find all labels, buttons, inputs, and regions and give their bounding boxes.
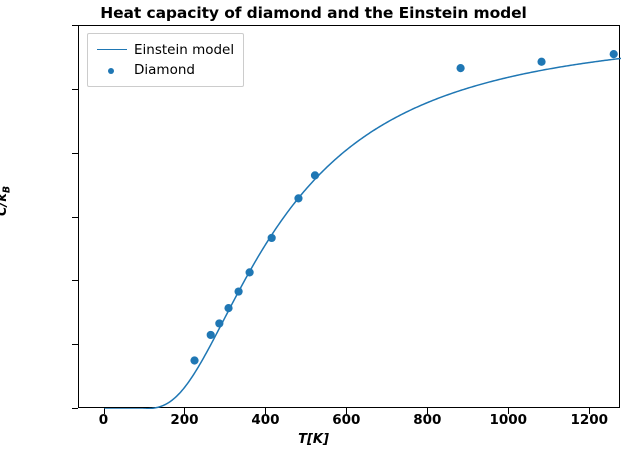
x-tick-label: 1200 bbox=[549, 412, 627, 428]
legend-item-diamond: Diamond bbox=[95, 60, 234, 80]
data-point bbox=[246, 268, 254, 276]
data-point bbox=[215, 319, 223, 327]
chart-figure: Heat capacity of diamond and the Einstei… bbox=[0, 0, 627, 459]
legend-label-einstein-model: Einstein model bbox=[134, 42, 234, 58]
einstein-model-curve bbox=[105, 58, 621, 409]
x-axis-label: T[K] bbox=[0, 432, 627, 447]
legend-item-einstein-model: Einstein model bbox=[95, 40, 234, 60]
data-point bbox=[311, 171, 319, 179]
data-point bbox=[235, 287, 243, 295]
x-tick-label: 600 bbox=[306, 412, 386, 428]
data-point bbox=[537, 58, 545, 66]
legend-label-diamond: Diamond bbox=[134, 62, 195, 78]
x-tick-label: 200 bbox=[144, 412, 224, 428]
data-point bbox=[224, 304, 232, 312]
data-point bbox=[207, 331, 215, 339]
x-tick-label: 800 bbox=[387, 412, 467, 428]
diamond-data-points bbox=[190, 50, 617, 365]
chart-legend: Einstein model Diamond bbox=[87, 33, 244, 87]
data-point bbox=[294, 194, 302, 202]
data-point bbox=[268, 234, 276, 242]
data-point bbox=[190, 356, 198, 364]
chart-title: Heat capacity of diamond and the Einstei… bbox=[0, 4, 627, 22]
legend-line-swatch bbox=[95, 42, 129, 58]
x-tick-label: 400 bbox=[225, 412, 305, 428]
data-point bbox=[456, 64, 464, 72]
data-point bbox=[610, 50, 618, 58]
y-axis-label-main: C/k bbox=[0, 193, 10, 216]
legend-dot-swatch bbox=[95, 62, 129, 78]
y-tick-mark bbox=[72, 408, 78, 409]
x-tick-label: 1000 bbox=[468, 412, 548, 428]
y-axis-label: C/kB bbox=[0, 186, 13, 216]
y-axis-label-sub: B bbox=[2, 186, 13, 193]
x-tick-label: 0 bbox=[64, 412, 144, 428]
